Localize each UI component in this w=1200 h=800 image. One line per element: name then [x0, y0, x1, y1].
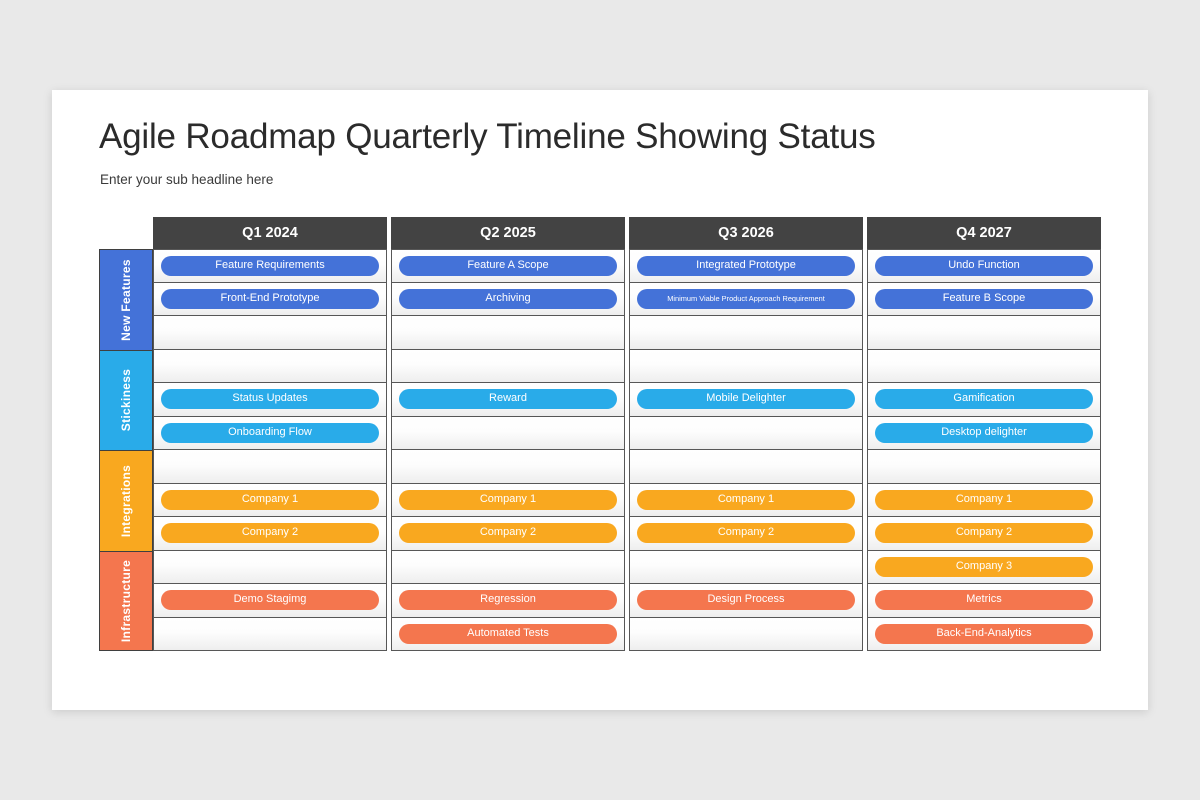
roadmap-cell: Onboarding Flow	[153, 417, 387, 451]
roadmap-cell: Mobile Delighter	[629, 383, 863, 417]
roadmap-task-pill[interactable]: Company 2	[637, 523, 855, 543]
quarter-columns: Q1 2024Feature RequirementsFront-End Pro…	[153, 217, 1101, 651]
roadmap-grid: New FeaturesStickinessIntegrationsInfras…	[99, 217, 1101, 651]
roadmap-task-pill[interactable]: Company 1	[875, 490, 1093, 510]
roadmap-cell	[629, 450, 863, 484]
quarter-column-1: Q1 2024Feature RequirementsFront-End Pro…	[153, 217, 387, 651]
roadmap-task-pill[interactable]: Feature A Scope	[399, 256, 617, 276]
page-subtitle: Enter your sub headline here	[100, 172, 273, 187]
roadmap-task-pill[interactable]: Back-End-Analytics	[875, 624, 1093, 644]
roadmap-cell: Minimum Viable Product Approach Requirem…	[629, 283, 863, 317]
roadmap-task-pill[interactable]: Reward	[399, 389, 617, 409]
roadmap-cell: Design Process	[629, 584, 863, 618]
roadmap-cell	[629, 551, 863, 585]
roadmap-cell	[153, 316, 387, 350]
roadmap-task-pill[interactable]: Desktop delighter	[875, 423, 1093, 443]
roadmap-cell: Gamification	[867, 383, 1101, 417]
category-band-label: Integrations	[119, 465, 133, 537]
roadmap-cell	[153, 551, 387, 585]
roadmap-task-pill[interactable]: Company 2	[875, 523, 1093, 543]
quarter-header-1[interactable]: Q1 2024	[153, 217, 387, 249]
roadmap-cell	[391, 316, 625, 350]
roadmap-cell	[867, 316, 1101, 350]
category-rail: New FeaturesStickinessIntegrationsInfras…	[99, 217, 153, 651]
quarter-header-3[interactable]: Q3 2026	[629, 217, 863, 249]
category-band-integrations[interactable]: Integrations	[99, 450, 153, 551]
roadmap-cell: Feature Requirements	[153, 249, 387, 283]
roadmap-task-pill[interactable]: Gamification	[875, 389, 1093, 409]
category-band-label: Infrastructure	[119, 560, 133, 642]
roadmap-task-pill[interactable]: Mobile Delighter	[637, 389, 855, 409]
roadmap-cell: Front-End Prototype	[153, 283, 387, 317]
page-title: Agile Roadmap Quarterly Timeline Showing…	[99, 117, 876, 157]
roadmap-cell: Reward	[391, 383, 625, 417]
roadmap-task-pill[interactable]: Feature Requirements	[161, 256, 379, 276]
roadmap-task-pill[interactable]: Automated Tests	[399, 624, 617, 644]
roadmap-cell	[153, 350, 387, 384]
roadmap-task-pill[interactable]: Archiving	[399, 289, 617, 309]
roadmap-task-pill[interactable]: Company 2	[399, 523, 617, 543]
roadmap-cell: Company 1	[153, 484, 387, 518]
roadmap-cell	[391, 450, 625, 484]
roadmap-task-pill[interactable]: Minimum Viable Product Approach Requirem…	[637, 289, 855, 309]
roadmap-cell	[629, 350, 863, 384]
roadmap-task-pill[interactable]: Demo Stagimg	[161, 590, 379, 610]
roadmap-cell: Integrated Prototype	[629, 249, 863, 283]
category-band-label: New Features	[119, 259, 133, 341]
quarter-column-4: Q4 2027Undo FunctionFeature B ScopeGamif…	[867, 217, 1101, 651]
quarter-header-4[interactable]: Q4 2027	[867, 217, 1101, 249]
roadmap-cell: Archiving	[391, 283, 625, 317]
roadmap-cell: Feature A Scope	[391, 249, 625, 283]
roadmap-task-pill[interactable]: Design Process	[637, 590, 855, 610]
roadmap-cell: Desktop delighter	[867, 417, 1101, 451]
roadmap-cell: Metrics	[867, 584, 1101, 618]
roadmap-task-pill[interactable]: Regression	[399, 590, 617, 610]
roadmap-cell: Company 1	[867, 484, 1101, 518]
roadmap-task-pill[interactable]: Company 1	[161, 490, 379, 510]
roadmap-cell: Company 2	[629, 517, 863, 551]
roadmap-cell	[629, 618, 863, 652]
roadmap-task-pill[interactable]: Company 2	[161, 523, 379, 543]
quarter-column-3: Q3 2026Integrated PrototypeMinimum Viabl…	[629, 217, 863, 651]
roadmap-cell: Company 1	[391, 484, 625, 518]
roadmap-cell	[391, 417, 625, 451]
category-band-infrastructure[interactable]: Infrastructure	[99, 551, 153, 652]
roadmap-task-pill[interactable]: Status Updates	[161, 389, 379, 409]
roadmap-cell	[867, 450, 1101, 484]
roadmap-cell: Company 1	[629, 484, 863, 518]
roadmap-cell: Automated Tests	[391, 618, 625, 652]
category-band-new-features[interactable]: New Features	[99, 249, 153, 350]
quarter-header-2[interactable]: Q2 2025	[391, 217, 625, 249]
category-band-stickiness[interactable]: Stickiness	[99, 350, 153, 451]
roadmap-cell	[629, 316, 863, 350]
roadmap-task-pill[interactable]: Onboarding Flow	[161, 423, 379, 443]
roadmap-task-pill[interactable]: Company 1	[637, 490, 855, 510]
roadmap-cell	[629, 417, 863, 451]
roadmap-body: New FeaturesStickinessIntegrationsInfras…	[99, 217, 1101, 651]
roadmap-cell: Feature B Scope	[867, 283, 1101, 317]
category-band-label: Stickiness	[119, 369, 133, 431]
roadmap-task-pill[interactable]: Feature B Scope	[875, 289, 1093, 309]
roadmap-task-pill[interactable]: Company 1	[399, 490, 617, 510]
roadmap-cell	[153, 450, 387, 484]
roadmap-task-pill[interactable]: Integrated Prototype	[637, 256, 855, 276]
roadmap-cell: Company 3	[867, 551, 1101, 585]
slide-card: Agile Roadmap Quarterly Timeline Showing…	[52, 90, 1148, 710]
roadmap-cell: Company 2	[391, 517, 625, 551]
roadmap-cell: Demo Stagimg	[153, 584, 387, 618]
roadmap-cell: Undo Function	[867, 249, 1101, 283]
quarter-column-2: Q2 2025Feature A ScopeArchivingRewardCom…	[391, 217, 625, 651]
roadmap-cell: Company 2	[867, 517, 1101, 551]
roadmap-cell	[153, 618, 387, 652]
rail-header-spacer	[99, 217, 153, 249]
roadmap-task-pill[interactable]: Metrics	[875, 590, 1093, 610]
roadmap-task-pill[interactable]: Undo Function	[875, 256, 1093, 276]
roadmap-cell	[391, 551, 625, 585]
roadmap-task-pill[interactable]: Front-End Prototype	[161, 289, 379, 309]
roadmap-cell: Status Updates	[153, 383, 387, 417]
roadmap-cell: Back-End-Analytics	[867, 618, 1101, 652]
roadmap-cell	[391, 350, 625, 384]
roadmap-cell	[867, 350, 1101, 384]
roadmap-cell: Company 2	[153, 517, 387, 551]
roadmap-cell: Regression	[391, 584, 625, 618]
roadmap-task-pill[interactable]: Company 3	[875, 557, 1093, 577]
